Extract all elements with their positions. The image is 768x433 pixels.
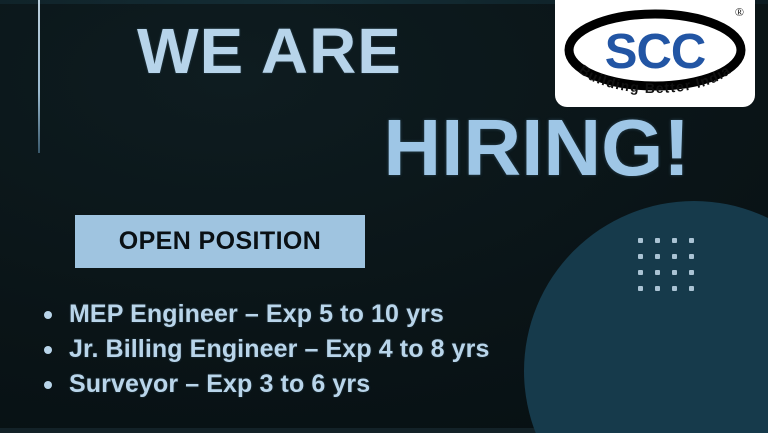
company-logo: SCC Building Better India ® — [555, 0, 755, 107]
grid-dot — [672, 238, 677, 243]
grid-dot — [672, 270, 677, 275]
grid-dot — [638, 286, 643, 291]
headline-hiring: HIRING! — [0, 108, 690, 188]
list-item: Surveyor – Exp 3 to 6 yrs — [44, 367, 490, 402]
bullet-icon — [44, 311, 52, 319]
svg-text:SCC: SCC — [605, 25, 706, 79]
headline-we-are: WE ARE — [137, 19, 402, 83]
grid-dot — [689, 254, 694, 259]
dot-grid-decoration — [638, 238, 694, 291]
grid-dot — [638, 238, 643, 243]
bullet-icon — [44, 381, 52, 389]
list-item: MEP Engineer – Exp 5 to 10 yrs — [44, 297, 490, 332]
grid-dot — [655, 254, 660, 259]
open-position-label-box: OPEN POSITION — [75, 215, 365, 268]
grid-dot — [655, 238, 660, 243]
grid-dot — [638, 270, 643, 275]
grid-dot — [655, 286, 660, 291]
grid-dot — [672, 286, 677, 291]
grid-dot — [655, 270, 660, 275]
list-item: Jr. Billing Engineer – Exp 4 to 8 yrs — [44, 332, 490, 367]
grid-dot — [638, 254, 643, 259]
job-title-text: Surveyor – Exp 3 to 6 yrs — [69, 370, 370, 399]
hiring-banner: SCC Building Better India ® WE ARE HIRIN… — [0, 0, 768, 433]
grid-dot — [689, 286, 694, 291]
grid-dot — [672, 254, 677, 259]
registered-trademark-icon: ® — [735, 5, 744, 20]
open-position-label: OPEN POSITION — [119, 227, 321, 256]
job-title-text: MEP Engineer – Exp 5 to 10 yrs — [69, 300, 444, 329]
logo-inner: SCC Building Better India ® — [555, 0, 755, 107]
grid-dot — [689, 238, 694, 243]
bullet-icon — [44, 346, 52, 354]
scc-logo-graphic: SCC Building Better India — [561, 6, 749, 104]
grid-dot — [689, 270, 694, 275]
job-list: MEP Engineer – Exp 5 to 10 yrs Jr. Billi… — [44, 297, 490, 402]
job-title-text: Jr. Billing Engineer – Exp 4 to 8 yrs — [69, 335, 490, 364]
